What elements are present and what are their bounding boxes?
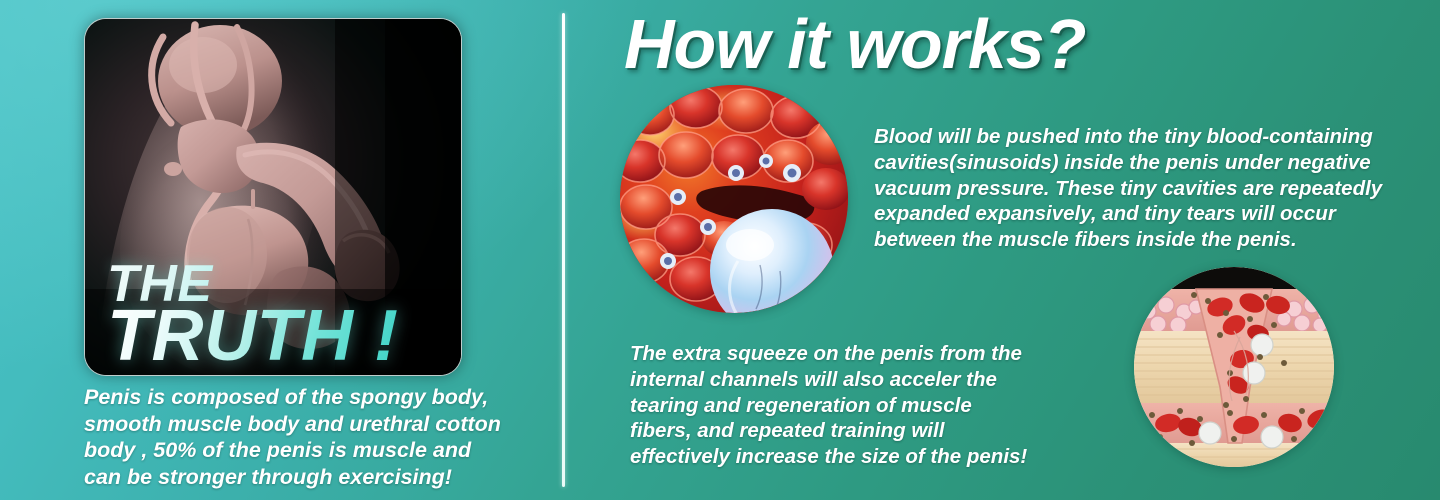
how-it-works-title: How it works? [624,4,1085,84]
how-it-works-paragraph-bottom: The extra squeeze on the penis from the … [630,341,1030,470]
how-it-works-paragraph-top: Blood will be pushed into the tiny blood… [874,124,1394,253]
truth-card: THE TRUTH ! [84,18,462,376]
truth-headline-line2: TRUTH ! [107,303,398,369]
blood-cells-illustration [620,85,848,313]
truth-headline: THE TRUTH ! [107,261,398,369]
muscle-fiber-tear-illustration [1134,267,1334,467]
blood-cells-circle-image [620,85,848,313]
right-panel: How it works? [562,0,1440,500]
tissue-tear-circle-image [1134,267,1334,467]
truth-caption: Penis is composed of the spongy body, sm… [84,384,516,491]
infographic-banner: THE TRUTH ! Penis is composed of the spo… [0,0,1440,500]
left-panel: THE TRUTH ! Penis is composed of the spo… [0,0,562,500]
